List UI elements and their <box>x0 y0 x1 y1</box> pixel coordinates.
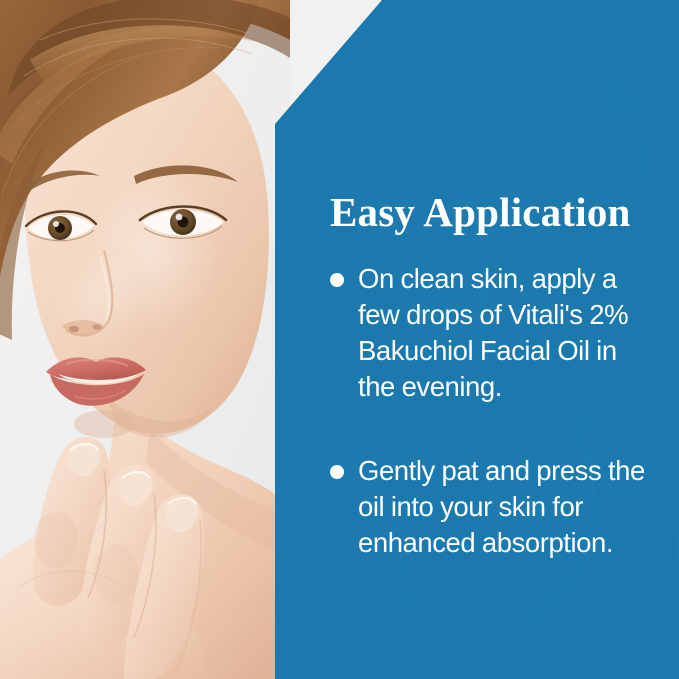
list-item: Gently pat and press the oil into your s… <box>330 453 646 561</box>
portrait-illustration <box>0 0 290 679</box>
list-item-text: Gently pat and press the oil into your s… <box>358 453 646 561</box>
product-infographic: Easy Application On clean skin, apply a … <box>0 0 679 679</box>
page-title: Easy Application <box>330 192 646 233</box>
bullet-dot-icon <box>330 273 344 287</box>
list-item-text: On clean skin, apply a few drops of Vita… <box>358 261 646 405</box>
instruction-list: On clean skin, apply a few drops of Vita… <box>330 261 646 561</box>
model-photo <box>0 0 290 679</box>
bullet-dot-icon <box>330 465 344 479</box>
panel-content: Easy Application On clean skin, apply a … <box>330 192 646 561</box>
list-item: On clean skin, apply a few drops of Vita… <box>330 261 646 405</box>
photo-stage <box>0 0 290 679</box>
